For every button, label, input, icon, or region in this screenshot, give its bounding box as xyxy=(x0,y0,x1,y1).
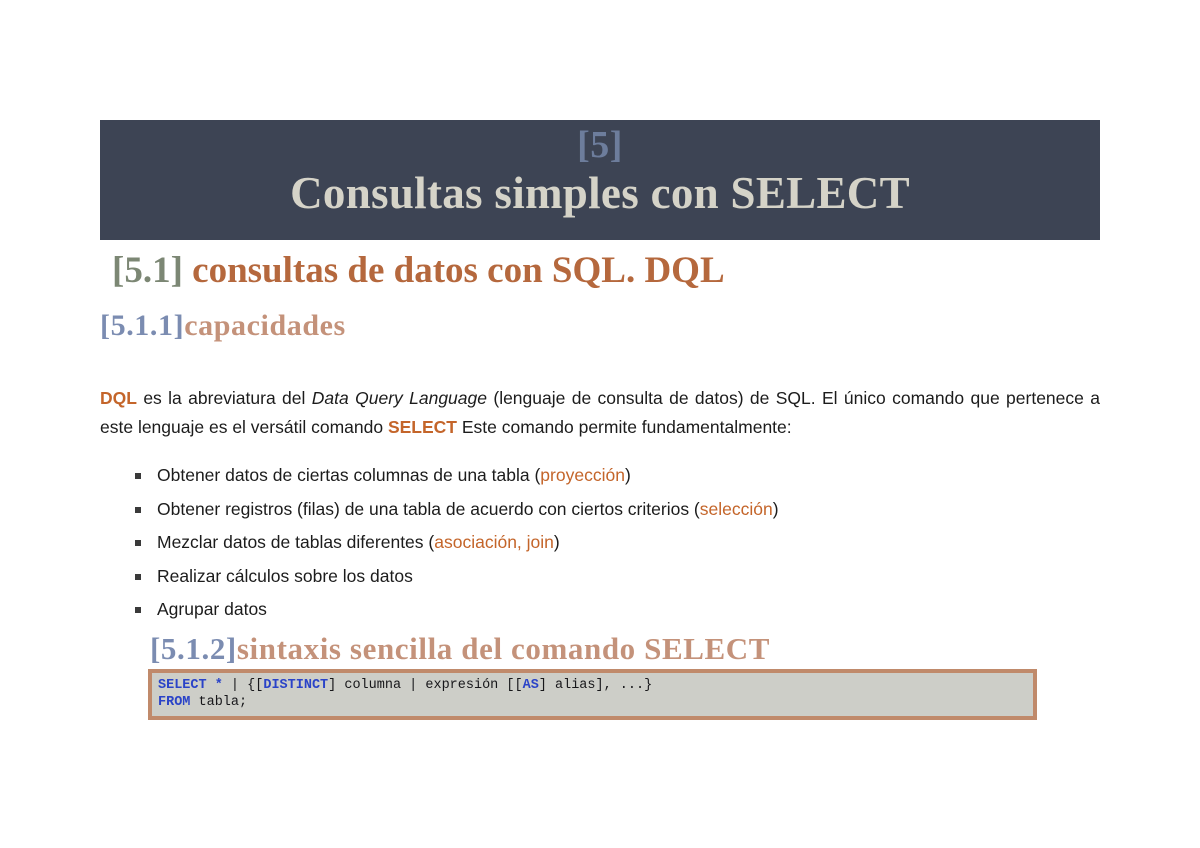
list-item-text-after: ) xyxy=(554,532,560,552)
sql-keyword-select: SELECT xyxy=(158,678,207,693)
list-item: Obtener datos de ciertas columnas de una… xyxy=(133,459,1063,493)
list-item: Mezclar datos de tablas diferentes (asoc… xyxy=(133,526,1063,560)
select-keyword: SELECT xyxy=(388,417,457,437)
heading-3-text: sintaxis sencilla del comando SELECT xyxy=(237,631,770,666)
list-item-accent: asociación, join xyxy=(434,532,554,552)
heading-1: [5.1] consultas de datos con SQL. DQL xyxy=(112,249,725,293)
code-text-4: tabla; xyxy=(190,695,247,710)
list-item: Obtener registros (filas) de una tabla d… xyxy=(133,493,1063,527)
code-text-3: ] alias], ...} xyxy=(539,678,652,693)
intro-paragraph: DQL es la abreviatura del Data Query Lan… xyxy=(100,384,1100,442)
heading-1-text: consultas de datos con SQL. DQL xyxy=(183,250,725,291)
bullet-square-icon xyxy=(135,473,141,479)
paragraph-text-3: Este comando permite fundamentalmente: xyxy=(457,417,792,437)
list-item-text-after: ) xyxy=(773,499,779,519)
list-item-accent: proyección xyxy=(540,465,625,485)
list-item-text-after: ) xyxy=(625,465,631,485)
heading-3-number: [5.1.2] xyxy=(150,631,237,666)
list-item-text: Obtener registros (filas) de una tabla d… xyxy=(157,499,700,519)
list-item-text: Obtener datos de ciertas columnas de una… xyxy=(157,465,540,485)
list-item-text: Agrupar datos xyxy=(157,599,267,619)
sql-keyword-from: FROM xyxy=(158,695,190,710)
heading-2-text: capacidades xyxy=(184,309,346,342)
list-item-text: Mezclar datos de tablas diferentes ( xyxy=(157,532,434,552)
code-text-1: | {[ xyxy=(223,678,264,693)
list-item: Realizar cálculos sobre los datos xyxy=(133,560,1063,594)
dql-keyword: DQL xyxy=(100,388,137,408)
capabilities-list: Obtener datos de ciertas columnas de una… xyxy=(133,459,1063,627)
chapter-number: [5] xyxy=(577,122,623,168)
heading-3: [5.1.2]sintaxis sencilla del comando SEL… xyxy=(150,630,770,668)
code-text-2: ] columna | expresión [[ xyxy=(328,678,522,693)
sql-keyword-as: AS xyxy=(523,678,539,693)
sql-syntax-code-block: SELECT * | {[DISTINCT] columna | expresi… xyxy=(148,669,1037,720)
paragraph-text-1: es la abreviatura del xyxy=(137,388,312,408)
page-title: Consultas simples con SELECT xyxy=(290,168,910,218)
heading-2: [5.1.1]capacidades xyxy=(100,307,346,345)
bullet-square-icon xyxy=(135,540,141,546)
code-content: SELECT * | {[DISTINCT] columna | expresi… xyxy=(158,677,1027,711)
document-page: [5] Consultas simples con SELECT [5.1] c… xyxy=(0,0,1200,848)
sql-keyword-star: * xyxy=(215,678,223,693)
data-query-language-italic: Data Query Language xyxy=(312,388,487,408)
title-band: [5] Consultas simples con SELECT xyxy=(100,120,1100,240)
bullet-square-icon xyxy=(135,574,141,580)
list-item-text: Realizar cálculos sobre los datos xyxy=(157,566,413,586)
sql-keyword-distinct: DISTINCT xyxy=(263,678,328,693)
heading-1-number: [5.1] xyxy=(112,250,183,291)
list-item-accent: selección xyxy=(700,499,773,519)
list-item: Agrupar datos xyxy=(133,593,1063,627)
bullet-square-icon xyxy=(135,507,141,513)
heading-2-number: [5.1.1] xyxy=(100,309,184,342)
bullet-square-icon xyxy=(135,607,141,613)
